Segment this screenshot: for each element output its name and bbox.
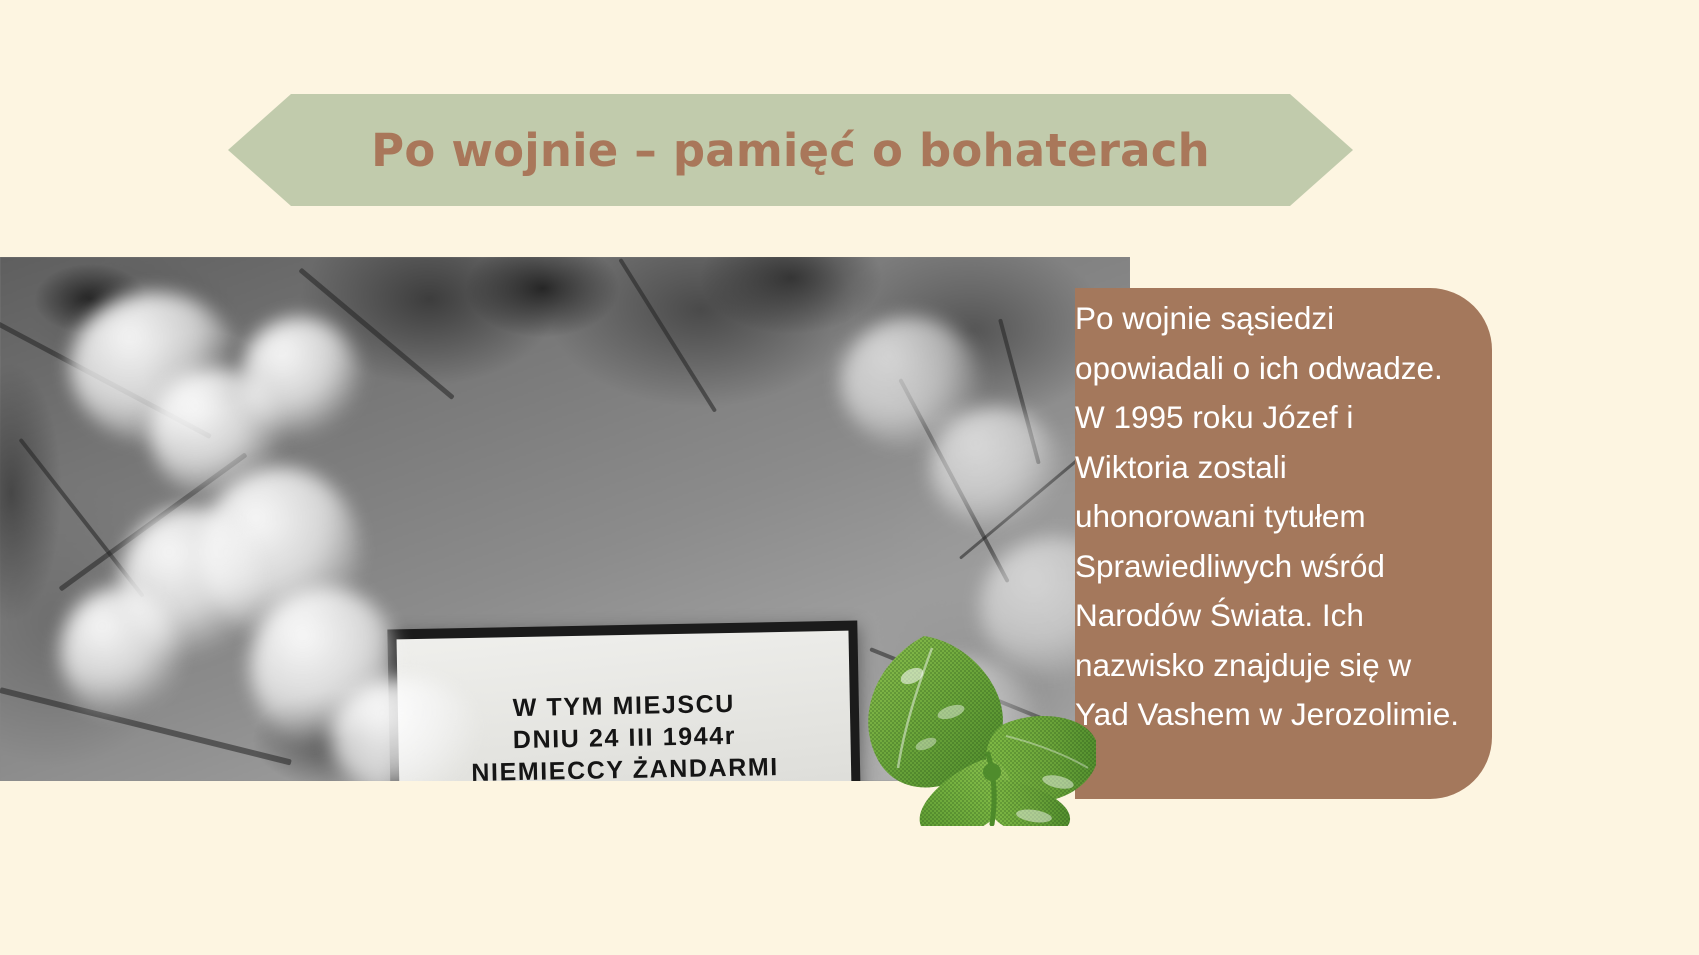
title-banner: Po wojnie – pamięć o bohaterach [228,94,1353,206]
plaque-line: W TYM MIEJSCU [512,690,735,722]
plaque-line: DNIU 24 III 1944r [513,722,737,754]
memorial-plaque: W TYM MIEJSCU DNIU 24 III 1944r NIEMIECC… [387,621,862,781]
panel-body-text: Po wojnie sąsiedzi opowiadali o ich odwa… [1075,294,1470,740]
page-title: Po wojnie – pamięć o bohaterach [371,124,1210,177]
plaque-face: W TYM MIEJSCU DNIU 24 III 1944r NIEMIECC… [397,631,854,781]
plaque-line: NIEMIECCY ŻANDARMI [471,753,779,781]
memorial-plaque-photograph: W TYM MIEJSCU DNIU 24 III 1944r NIEMIECC… [0,257,1130,781]
slide-canvas: Po wojnie – pamięć o bohaterach W TYM MI… [0,0,1699,955]
text-panel: Po wojnie sąsiedzi opowiadali o ich odwa… [1075,288,1492,799]
